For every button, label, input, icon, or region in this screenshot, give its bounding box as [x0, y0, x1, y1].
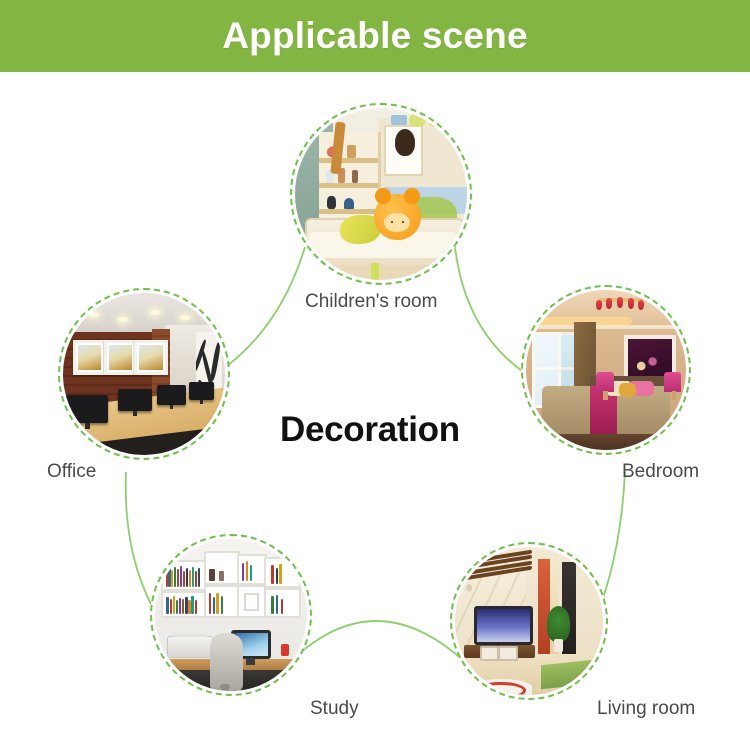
label-living-room: Living room — [597, 698, 695, 720]
node-living-room[interactable] — [450, 542, 608, 700]
scene-study — [155, 539, 307, 691]
label-study: Study — [310, 698, 359, 720]
photo-study — [155, 539, 307, 691]
center-label: Decoration — [280, 410, 460, 450]
scene-bedroom — [526, 290, 686, 450]
photo-office — [63, 293, 225, 455]
page-title: Applicable scene — [222, 15, 528, 57]
node-study[interactable] — [150, 534, 312, 696]
scene-living-room — [455, 547, 603, 695]
scene-office — [63, 293, 225, 455]
label-childrens-room: Children's room — [305, 291, 437, 313]
poster-root: Applicable scene — [0, 0, 750, 750]
photo-bedroom — [526, 290, 686, 450]
header-bar: Applicable scene — [0, 0, 750, 72]
node-office[interactable] — [58, 288, 230, 460]
node-bedroom[interactable] — [521, 285, 691, 455]
node-childrens-room[interactable] — [290, 103, 472, 285]
photo-childrens-room — [295, 108, 467, 280]
arc-living-to-study — [290, 621, 465, 662]
scene-childrens-room — [295, 108, 467, 280]
photo-living-room — [455, 547, 603, 695]
label-office: Office — [47, 461, 96, 483]
scene-diagram: Children's room — [0, 72, 750, 750]
label-bedroom: Bedroom — [622, 461, 699, 483]
